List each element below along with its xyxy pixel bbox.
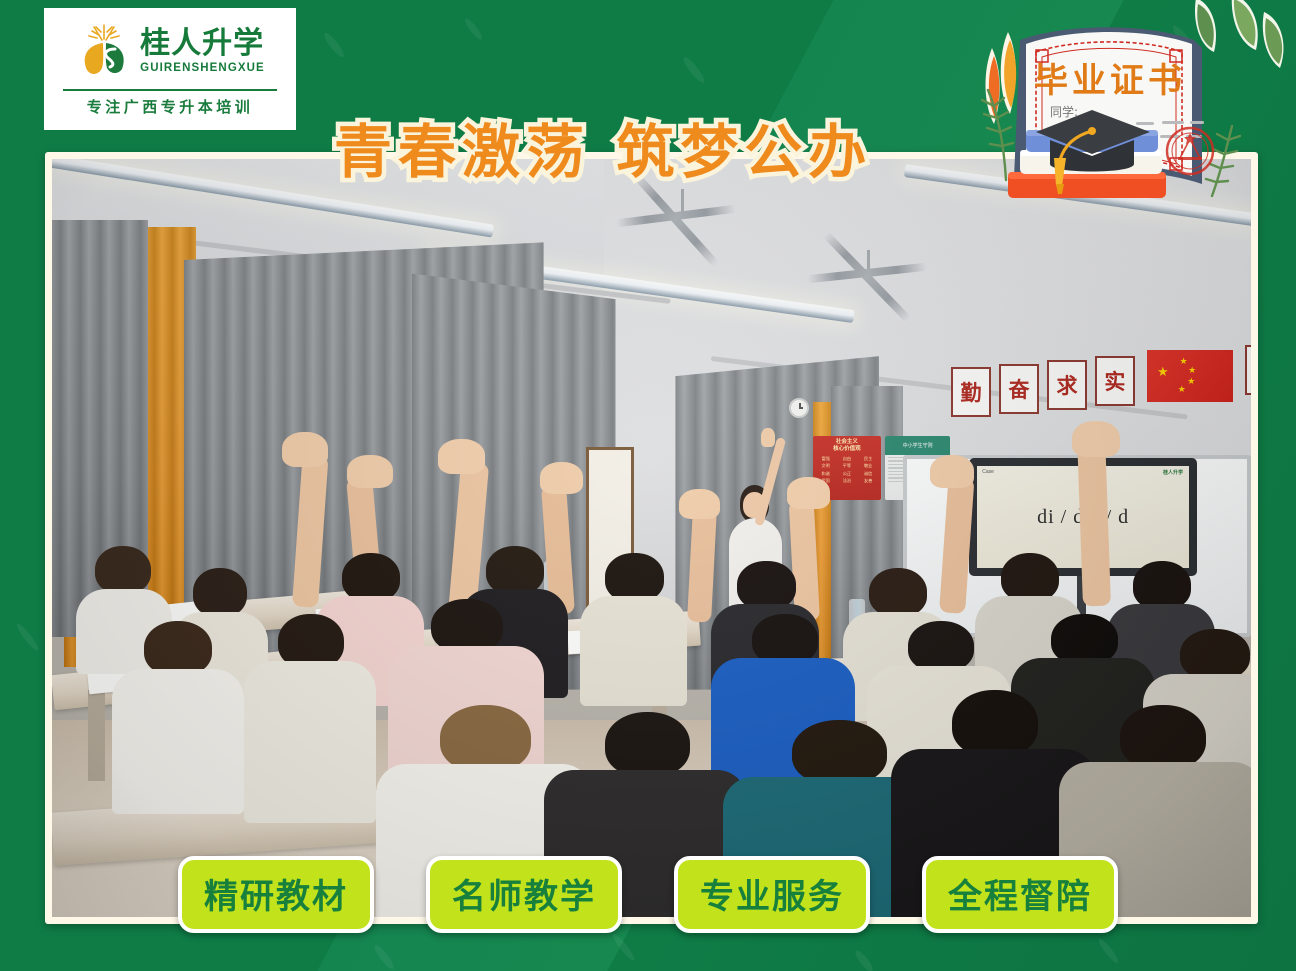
- student-hand: [282, 432, 328, 467]
- student-hand: [679, 489, 720, 519]
- screen-brand-watermark: 桂人升学: [1163, 469, 1183, 476]
- desk-leg: [88, 690, 105, 781]
- svg-text:毕业证书: 毕业证书: [1034, 61, 1186, 101]
- student-hand: [347, 455, 393, 488]
- page-title: 青春激荡 筑梦公办: [334, 105, 872, 189]
- poster-title-line1: 社会主义: [836, 439, 858, 446]
- graduation-certificate-illustration: 毕业证书 同学:: [964, 0, 1294, 230]
- value-item: 平等: [837, 463, 856, 469]
- poster-title-line2: 核心价值观: [833, 446, 861, 453]
- screen-corner-label: Case: [982, 469, 994, 475]
- china-flag-icon: ★ ★ ★ ★ ★: [1147, 350, 1233, 402]
- feature-badge-supervision[interactable]: 全程督陪: [922, 856, 1118, 933]
- banner-char-tile: 勤: [951, 367, 991, 417]
- value-item: 文明: [816, 463, 835, 469]
- feature-badge-service[interactable]: 专业服务: [674, 856, 870, 933]
- logo-chinese-name: 桂人升学: [140, 28, 264, 60]
- logo-divider: [63, 89, 277, 91]
- student: [580, 553, 688, 697]
- classroom-photo-frame: 社会主义 核心价值观 富强 自由 民主 文明 平等 敬业 和谐 公正 诚信 爱国…: [45, 152, 1258, 924]
- banner-char-tile: 实: [1095, 356, 1135, 406]
- value-item: 友善: [859, 478, 878, 484]
- poster-root: 桂人升学 GUIRENSHENGXUE 专注广西专升本培训 青春激荡 筑梦公办: [0, 0, 1296, 971]
- teacher-hand: [761, 428, 774, 446]
- feature-badge-row: 精研教材 名师教学 专业服务 全程督陪: [0, 856, 1296, 933]
- core-values-grid: 富强 自由 民主 文明 平等 敬业 和谐 公正 诚信 爱国 法治 友善: [816, 456, 878, 485]
- value-item: 法治: [837, 478, 856, 484]
- logo-pinyin: GUIRENSHENGXUE: [140, 61, 265, 76]
- student-hand: [930, 455, 974, 488]
- student-hand: [1072, 421, 1120, 457]
- fan-rod: [867, 250, 870, 270]
- banner-char-tile: 尊: [1245, 345, 1251, 395]
- feature-badge-teachers[interactable]: 名师教学: [426, 856, 622, 933]
- value-item: 自由: [837, 456, 856, 462]
- value-item: 民主: [859, 456, 878, 462]
- value-item: 诚信: [859, 471, 878, 477]
- board-title: 中小学生守则: [885, 436, 950, 455]
- banner-char-tile: 奋: [999, 364, 1039, 414]
- brand-logo-card: 桂人升学 GUIRENSHENGXUE 专注广西专升本培训: [44, 8, 296, 130]
- value-item: 敬业: [859, 463, 878, 469]
- classroom-photo: 社会主义 核心价值观 富强 自由 民主 文明 平等 敬业 和谐 公正 诚信 爱国…: [52, 159, 1251, 917]
- student: [112, 621, 244, 803]
- value-item: 富强: [816, 456, 835, 462]
- logo-tagline: 专注广西专升本培训: [87, 96, 254, 117]
- student: [244, 614, 376, 811]
- banner-char-tile: 求: [1047, 360, 1087, 410]
- student-hand: [540, 462, 583, 494]
- svg-text:同学:: 同学:: [1050, 104, 1078, 119]
- fan-rod: [681, 189, 684, 213]
- student-hand: [787, 477, 830, 509]
- wheat-leaf-logo-icon: [75, 23, 133, 81]
- feature-badge-textbooks[interactable]: 精研教材: [178, 856, 374, 933]
- value-item: 和谐: [816, 471, 835, 477]
- student-hand: [438, 439, 485, 474]
- value-item: 公正: [837, 471, 856, 477]
